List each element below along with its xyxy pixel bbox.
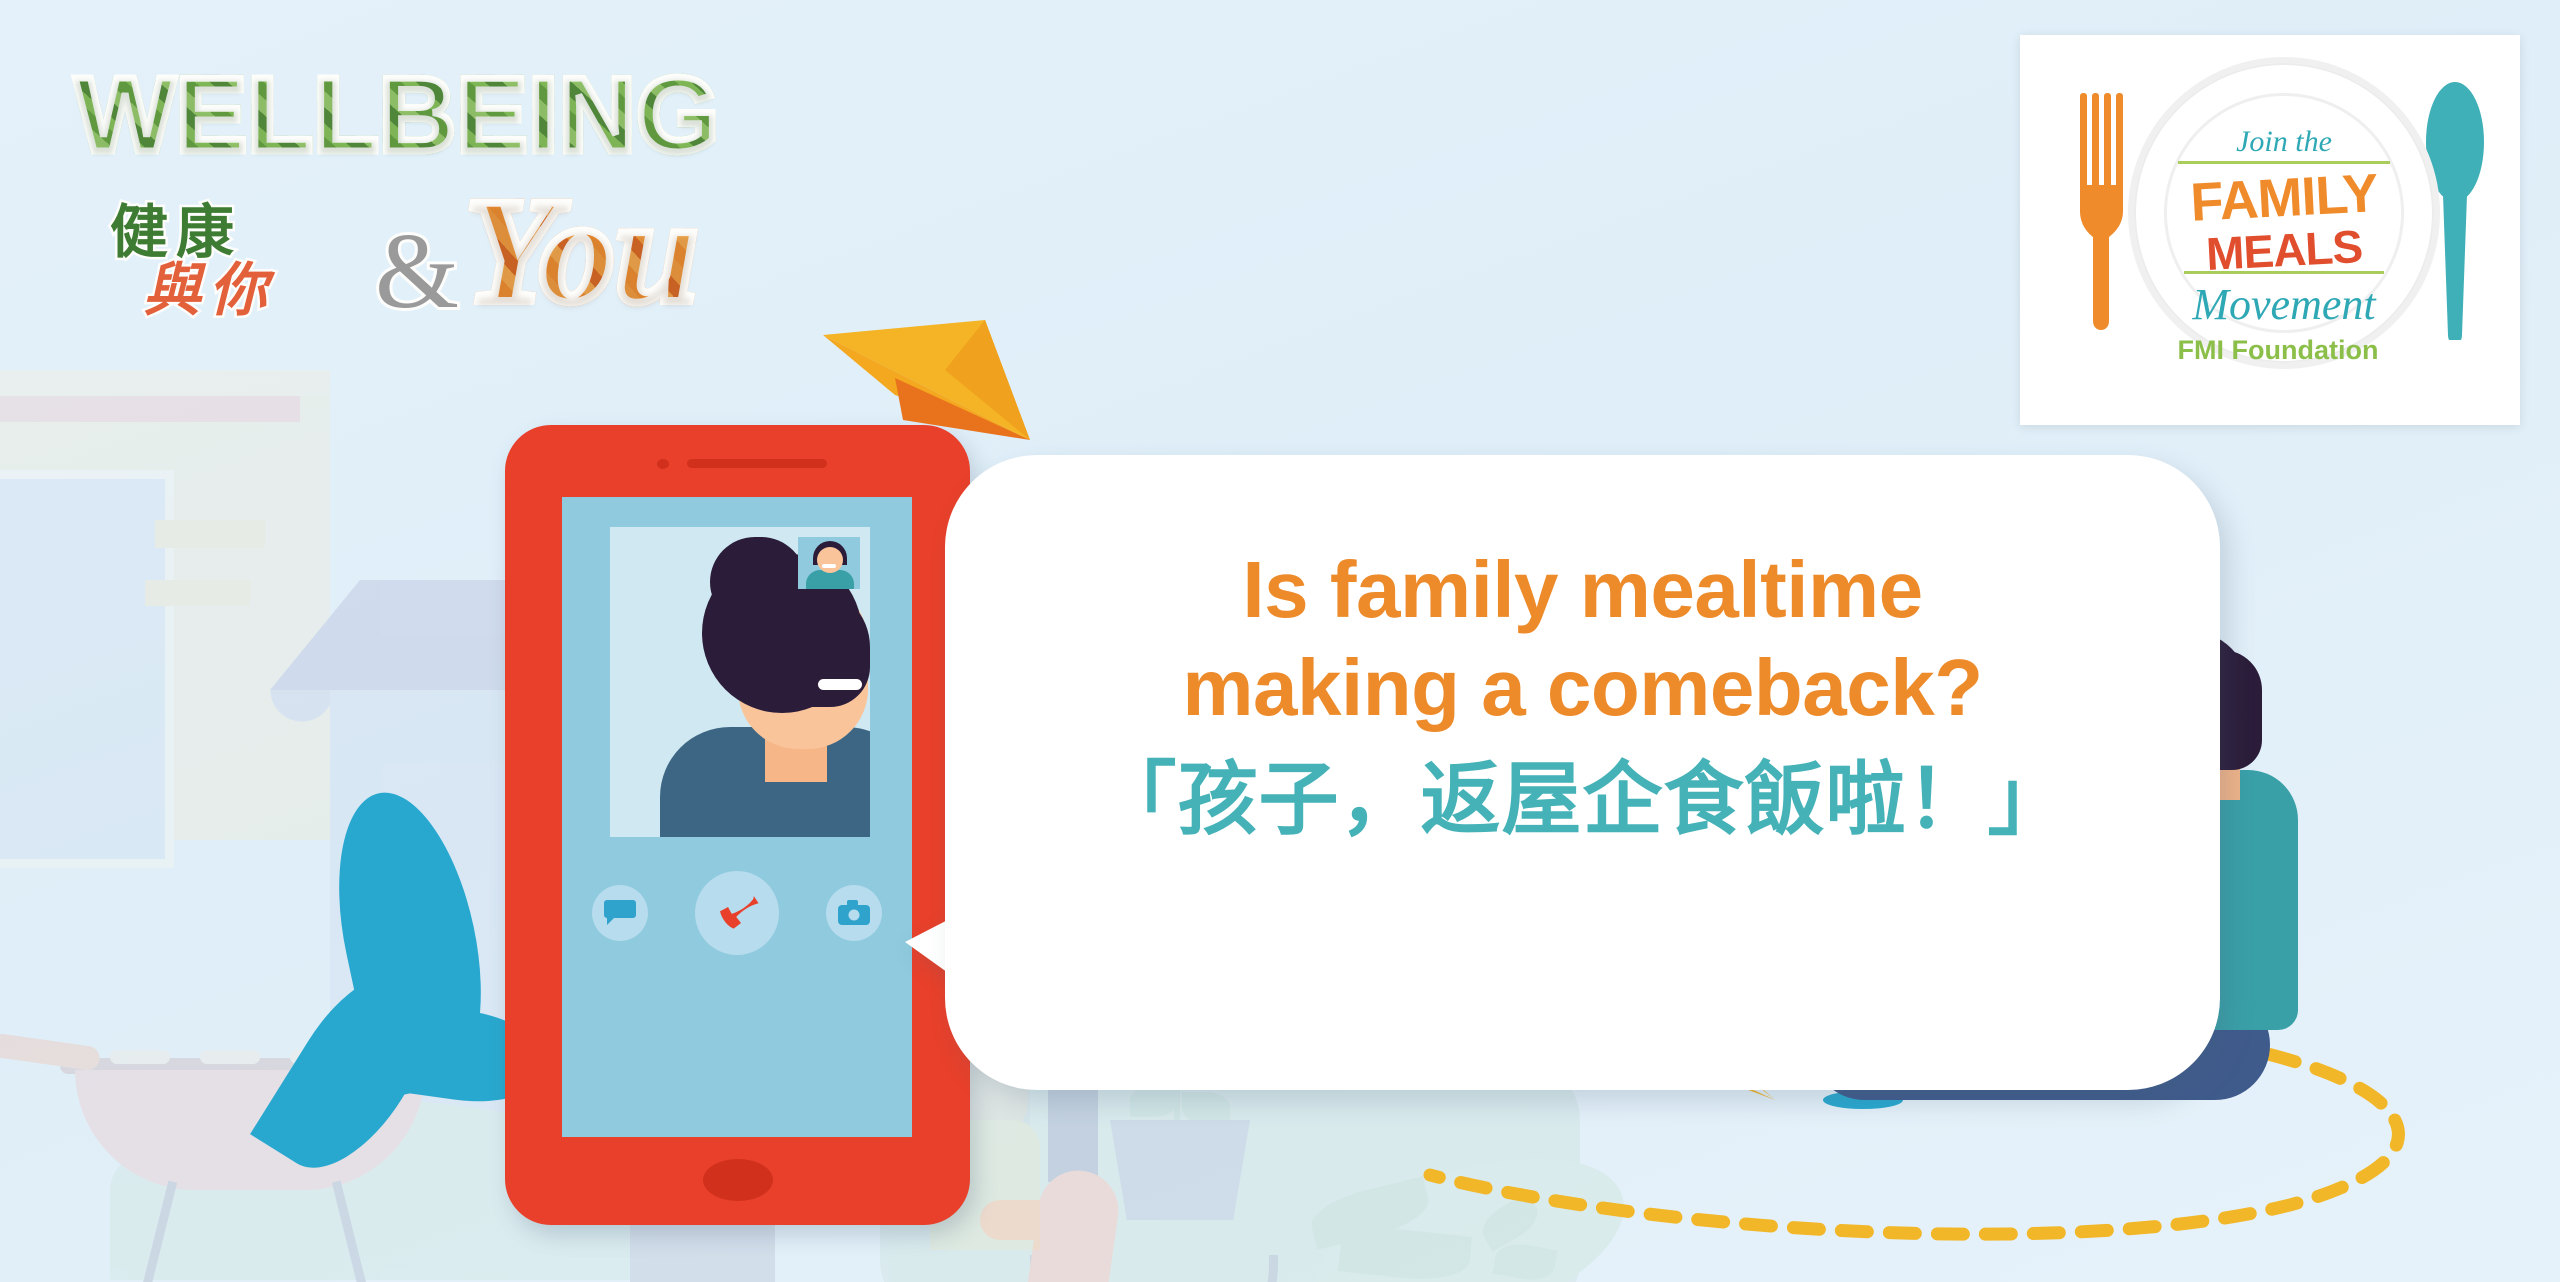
logo-chinese-orange: 與你 <box>143 243 275 327</box>
phone-icon <box>712 888 762 938</box>
inset-person-face <box>817 547 843 573</box>
background-food <box>110 1050 170 1064</box>
logo-wellbeing-text: WELLBEING <box>75 55 720 176</box>
background-house-band <box>0 396 300 422</box>
background-food <box>200 1050 260 1064</box>
logo-ampersand: & <box>375 210 459 334</box>
end-call-button[interactable] <box>695 871 779 955</box>
divider <box>2184 271 2384 274</box>
camera-button[interactable] <box>826 885 882 941</box>
fmi-join-the-text: Join the <box>2134 125 2434 159</box>
plate-shape: Join the FAMILY MEALS Movement <box>2128 57 2440 369</box>
inset-person-mouth <box>822 564 836 568</box>
headline-line-2: making a comeback? <box>945 639 2220 737</box>
banner-canvas: Is family mealtime making a comeback? 「孩… <box>0 0 2560 1282</box>
caller-mouth <box>818 679 862 690</box>
background-house-roof <box>0 370 330 396</box>
call-controls <box>562 867 912 957</box>
wellbeing-and-you-logo: WELLBEING 健康 與你 & You <box>55 45 795 305</box>
phone-home-button[interactable] <box>703 1159 773 1201</box>
background-person-arm <box>0 1032 101 1071</box>
background-flower-pot <box>1110 1120 1250 1220</box>
background-door <box>0 470 174 868</box>
chat-button[interactable] <box>592 885 648 941</box>
caller-hair-bun <box>710 537 806 627</box>
video-inset-self-view <box>798 537 860 589</box>
chinese-headline: 「孩子，返屋企食飯啦！」 <box>945 750 2220 850</box>
camera-icon <box>838 900 870 926</box>
background-tile <box>155 520 265 548</box>
video-call-feed <box>610 527 870 837</box>
logo-you-text: You <box>465 165 698 337</box>
phone-speaker <box>687 459 827 468</box>
headline-line-1: Is family mealtime <box>945 541 2220 639</box>
background-person-arm <box>980 1200 1110 1240</box>
fork-icon <box>2078 93 2124 343</box>
speech-bubble: Is family mealtime making a comeback? 「孩… <box>945 455 2220 1090</box>
chat-icon <box>604 900 636 926</box>
background-leaf <box>1182 1092 1230 1124</box>
phone-illustration <box>505 425 970 1225</box>
fmi-movement-text: Movement <box>2134 279 2434 330</box>
phone-front-camera-icon <box>657 459 669 469</box>
fmi-logo-card: Join the FAMILY MEALS Movement FMI Found… <box>2020 35 2520 425</box>
phone-screen <box>562 497 912 1137</box>
background-tile <box>145 580 250 606</box>
fmi-foundation-text: FMI Foundation <box>2128 335 2428 366</box>
